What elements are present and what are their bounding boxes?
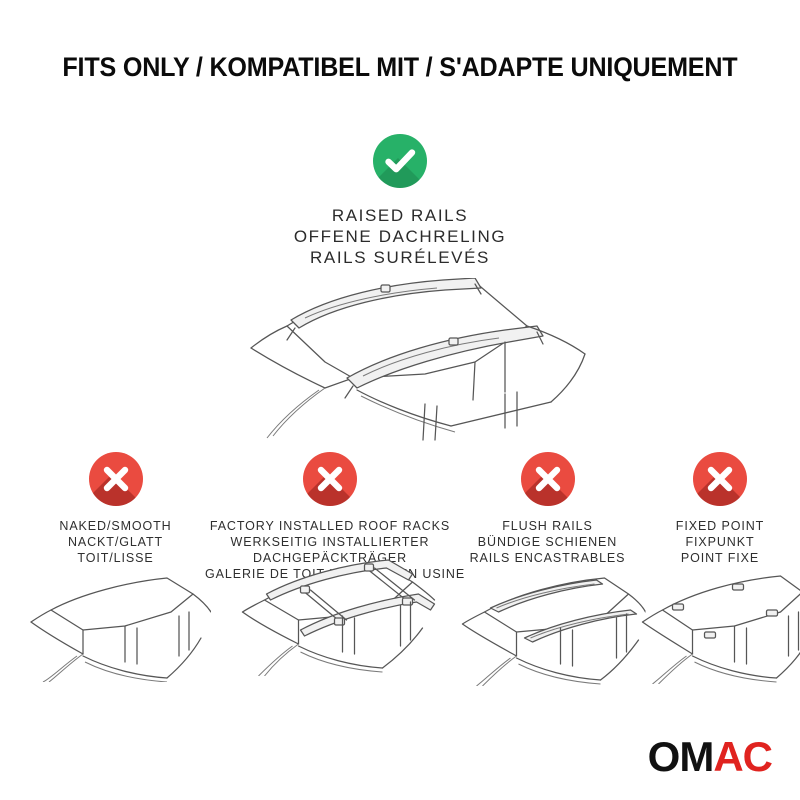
item-label-en: FACTORY INSTALLED ROOF RACKS <box>205 518 455 534</box>
approved-label-fr: RAILS SURÉLEVÉS <box>0 247 800 268</box>
incompatible-section: NAKED/SMOOTH NACKT/GLATT TOIT/LISSE <box>0 452 800 682</box>
item-labels: FLUSH RAILS BÜNDIGE SCHIENEN RAILS ENCAS… <box>450 518 645 566</box>
approved-labels: RAISED RAILS OFFENE DACHRELING RAILS SUR… <box>0 205 800 268</box>
approved-section: RAISED RAILS OFFENE DACHRELING RAILS SUR… <box>0 134 800 268</box>
incompatible-item-flush-rails: FLUSH RAILS BÜNDIGE SCHIENEN RAILS ENCAS… <box>450 452 645 566</box>
item-label-en: FLUSH RAILS <box>450 518 645 534</box>
item-label-en: FIXED POINT <box>640 518 800 534</box>
car-roof-raised-rails-illustration <box>175 278 625 443</box>
incompatible-item-factory-roof-racks: FACTORY INSTALLED ROOF RACKS WERKSEITIG … <box>205 452 455 582</box>
item-label-de: BÜNDIGE SCHIENEN <box>450 534 645 550</box>
approved-label-de: OFFENE DACHRELING <box>0 226 800 247</box>
x-circle-icon <box>693 452 747 506</box>
car-roof-factory-rack-illustration <box>223 548 438 676</box>
car-roof-flush-rails-illustration <box>450 564 645 686</box>
page-title: FITS ONLY / KOMPATIBEL MIT / S'ADAPTE UN… <box>62 52 737 83</box>
incompatible-item-naked-smooth: NAKED/SMOOTH NACKT/GLATT TOIT/LISSE <box>18 452 213 566</box>
x-circle-icon <box>303 452 357 506</box>
check-circle-icon <box>373 134 427 188</box>
logo-text-dark: OM <box>648 733 714 780</box>
incompatible-item-fixed-point: FIXED POINT FIXPUNKT POINT FIXE <box>640 452 800 566</box>
x-circle-icon <box>521 452 575 506</box>
page-title-bar: FITS ONLY / KOMPATIBEL MIT / S'ADAPTE UN… <box>0 52 800 83</box>
approved-label-en: RAISED RAILS <box>0 205 800 226</box>
omac-logo: OMAC <box>648 736 772 778</box>
logo-text-red: AC <box>713 733 772 780</box>
item-labels: NAKED/SMOOTH NACKT/GLATT TOIT/LISSE <box>18 518 213 566</box>
item-labels: FIXED POINT FIXPUNKT POINT FIXE <box>640 518 800 566</box>
item-label-de: FIXPUNKT <box>640 534 800 550</box>
car-roof-fixed-point-illustration <box>633 564 800 684</box>
car-roof-naked-illustration <box>21 564 211 682</box>
item-label-de: NACKT/GLATT <box>18 534 213 550</box>
item-label-en: NAKED/SMOOTH <box>18 518 213 534</box>
x-circle-icon <box>89 452 143 506</box>
